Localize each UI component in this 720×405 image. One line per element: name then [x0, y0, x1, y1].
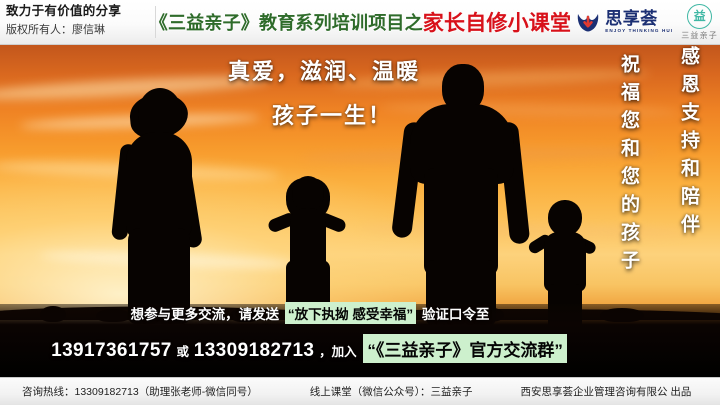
slide-footer: 咨询热线：13309182713（助理张老师-微信同号） 线上课堂（微信公众号）… [0, 377, 720, 405]
headline-line-1: 真爱，滋润、温暖 [228, 54, 420, 86]
mother-torso [126, 132, 192, 240]
daughter-silhouette [268, 176, 346, 322]
cta-phone-primary: 13917361757 [51, 340, 172, 361]
cta-line-1-suffix: 验证口令至 [422, 307, 490, 322]
header-title-green: 《三益亲子》教育系列培训项目之 [150, 9, 423, 35]
sixianghui-name-en: ENJOY THINKING HUI [605, 29, 673, 34]
cta-phone-secondary: 13309182713 [194, 340, 315, 361]
cta-passcode-highlight: “放下执拗 感受幸福” [285, 302, 416, 324]
daughter-head [292, 176, 324, 212]
cta-group-name-highlight: “《三益亲子》官方交流群” [363, 334, 567, 363]
footer-online-class: 线上课堂（微信公众号）：三益亲子 [310, 384, 473, 399]
sanyiqinzi-logo: 益 三益亲子 [681, 4, 718, 41]
presentation-slide: 致力于有价值的分享 版权所有人：廖信琳 《三益亲子》教育系列培训项目之 家长自修… [0, 0, 720, 405]
mother-silhouette [112, 88, 208, 320]
cta-or-label: 或 [177, 345, 190, 359]
slide-headline: 真爱，滋润、温暖 孩子一生！ [228, 54, 420, 130]
sixianghui-name-cn: 思享荟 [605, 10, 673, 27]
header-title-red: 家长自修小课堂 [423, 7, 571, 37]
cta-line-1: 想参与更多交流，请发送 “放下执拗 感受幸福” 验证口令至 [0, 302, 620, 324]
header-copyright: 版权所有人：廖信琳 [6, 22, 156, 38]
vertical-text-gratitude: 感恩支持和陪伴 [675, 46, 702, 242]
son-head [548, 200, 582, 236]
vertical-text-blessing: 祝福您和您的孩子 [615, 54, 642, 278]
footer-producer: 西安思享荟企业管理咨询有限公 出品 [520, 384, 691, 399]
sixianghui-logo: 思享荟 ENJOY THINKING HUI [574, 8, 673, 36]
mother-head [138, 88, 182, 138]
sixianghui-wordmark: 思享荟 ENJOY THINKING HUI [605, 10, 673, 34]
header-copyright-block: 致力于有价值的分享 版权所有人：廖信琳 [6, 3, 156, 38]
header-title: 《三益亲子》教育系列培训项目之 家长自修小课堂 [163, 6, 558, 38]
son-torso [544, 232, 586, 292]
header-logos: 思享荟 ENJOY THINKING HUI 益 三益亲子 [574, 1, 718, 43]
cta-line-1-prefix: 想参与更多交流，请发送 [131, 307, 280, 322]
sanyiqinzi-name-cn: 三益亲子 [681, 30, 718, 41]
sanyiqinzi-badge-icon: 益 [687, 4, 712, 29]
header-tagline: 致力于有价值的分享 [6, 3, 156, 20]
headline-line-2: 孩子一生！ [272, 98, 420, 130]
slide-photo-stage: 真爱，滋润、温暖 孩子一生！ 祝福您和您的孩子 感恩支持和陪伴 想参与更多交流，… [0, 44, 720, 378]
cta-join-label: ，加入 [319, 345, 357, 359]
slide-header: 致力于有价值的分享 版权所有人：廖信琳 《三益亲子》教育系列培训项目之 家长自修… [0, 0, 720, 45]
sixianghui-mark-icon [574, 8, 602, 36]
footer-hotline: 咨询热线：13309182713（助理张老师-微信同号） [22, 384, 258, 399]
cta-line-2: 13917361757 或 13309182713 ，加入 “《三益亲子》官方交… [0, 334, 620, 363]
